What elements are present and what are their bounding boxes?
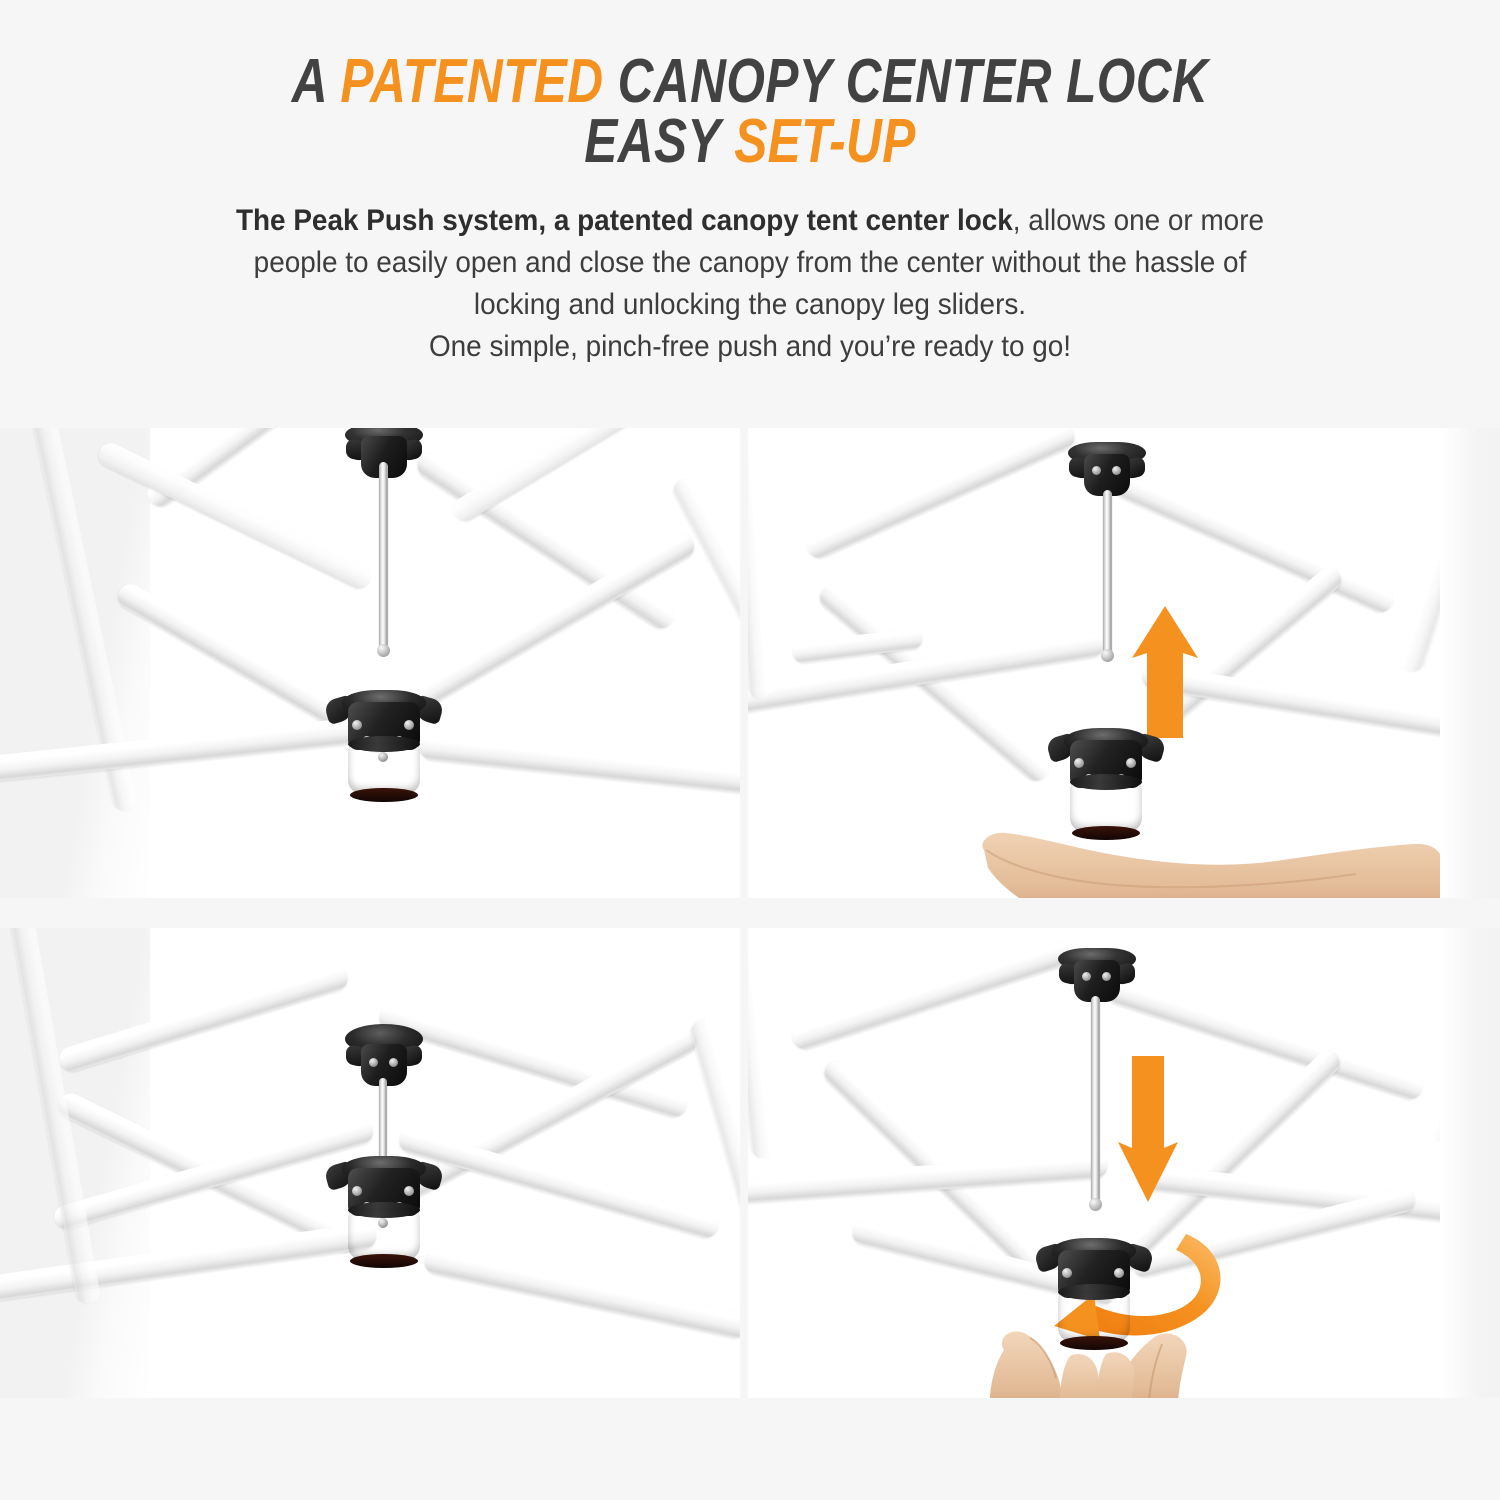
peak-rivet	[369, 1058, 378, 1067]
canopy-frame-illustration-4	[748, 928, 1500, 1398]
rod-tip	[377, 644, 390, 657]
panel-push-up	[748, 428, 1500, 898]
description-line-2: people to easily open and close the cano…	[136, 242, 1364, 284]
hub-rivet	[1074, 758, 1084, 768]
frame-tube	[669, 474, 740, 750]
frame-tube	[413, 448, 679, 633]
page-title: A PATENTED CANOPY CENTER LOCK EASY SET-U…	[150, 52, 1350, 172]
hub-rivet	[404, 720, 414, 730]
hub-red-grip	[348, 742, 420, 794]
frame-leg-tube	[688, 1017, 740, 1341]
product-feature-graphic: A PATENTED CANOPY CENTER LOCK EASY SET-U…	[0, 0, 1500, 1500]
peak-rivet	[1082, 972, 1091, 981]
description-line-3: locking and unlocking the canopy leg sli…	[136, 284, 1364, 326]
frame-tube	[419, 733, 740, 795]
hub-rivet	[1062, 1268, 1072, 1278]
center-lock-hub	[328, 1156, 440, 1268]
description-bold-lead: The Peak Push system, a patented canopy …	[236, 204, 1013, 237]
panel-unlocked-lowered	[0, 428, 740, 898]
canopy-frame-illustration-3	[0, 928, 740, 1398]
description-line-4: One simple, pinch-free push and you’re r…	[136, 326, 1364, 368]
hub-red-base	[350, 788, 418, 802]
peak-bracket	[345, 1024, 423, 1078]
panel-twist-release	[748, 928, 1500, 1398]
hub-rivet	[404, 1186, 414, 1196]
peak-bracket	[1068, 442, 1146, 496]
headline-line-1: A PATENTED CANOPY CENTER LOCK	[150, 52, 1350, 112]
frame-tube	[95, 439, 375, 592]
center-lock-hub	[328, 690, 440, 802]
frame-leg-tube	[1426, 928, 1500, 1145]
headline-accent-patented: PATENTED	[340, 47, 603, 116]
frame-leg-tube	[748, 428, 772, 699]
rod-tip	[1089, 1198, 1102, 1211]
frame-tube	[789, 939, 1073, 1052]
frame-tube	[56, 963, 350, 1075]
center-lock-rod	[379, 462, 388, 650]
arrow-up-icon	[1130, 606, 1200, 738]
hub-red-base	[350, 1254, 418, 1268]
image-row-top	[0, 428, 1500, 898]
description-line-1-rest: , allows one or more	[1013, 204, 1264, 237]
headline-accent-setup: SET-UP	[734, 107, 916, 176]
image-row-bottom	[0, 928, 1500, 1398]
peak-rivet	[1112, 466, 1121, 475]
hub-rivet	[352, 1186, 362, 1196]
peak-bracket	[1058, 948, 1136, 1002]
description-paragraph: The Peak Push system, a patented canopy …	[136, 200, 1364, 368]
panel-locked-raised	[0, 928, 740, 1398]
canopy-frame-illustration-1	[0, 428, 740, 898]
headline-line-2-pre: EASY	[584, 107, 734, 176]
frame-tube	[422, 1246, 740, 1340]
frame-tube	[1113, 471, 1397, 616]
frame-tube	[803, 428, 1078, 562]
rod-tip	[1101, 649, 1114, 662]
center-lock-rod	[1103, 490, 1112, 655]
frame-leg-tube	[1396, 428, 1500, 675]
peak-rivet	[1092, 466, 1101, 475]
hub-rivet	[1126, 758, 1136, 768]
headline-line-1-pre: A	[292, 47, 341, 116]
canopy-frame-illustration-2	[748, 428, 1500, 898]
arrow-down-icon	[1116, 1056, 1180, 1202]
peak-rivet	[389, 1058, 398, 1067]
hand-grip-pair	[986, 1316, 1246, 1398]
frame-leg-tube	[748, 928, 776, 1160]
description-line-1: The Peak Push system, a patented canopy …	[136, 200, 1364, 242]
hand-open-palm	[976, 806, 1446, 898]
peak-rivet	[1102, 972, 1111, 981]
headline-line-2: EASY SET-UP	[150, 112, 1350, 172]
frame-tube	[397, 1126, 721, 1240]
hub-rivet	[1114, 1268, 1124, 1278]
hub-red-grip	[348, 1208, 420, 1260]
feature-image-grid	[0, 428, 1500, 1448]
headline-line-1-post: CANOPY CENTER LOCK	[604, 47, 1209, 116]
hub-rivet	[352, 720, 362, 730]
frame-tube	[0, 1222, 378, 1306]
center-lock-rod	[1091, 996, 1100, 1204]
